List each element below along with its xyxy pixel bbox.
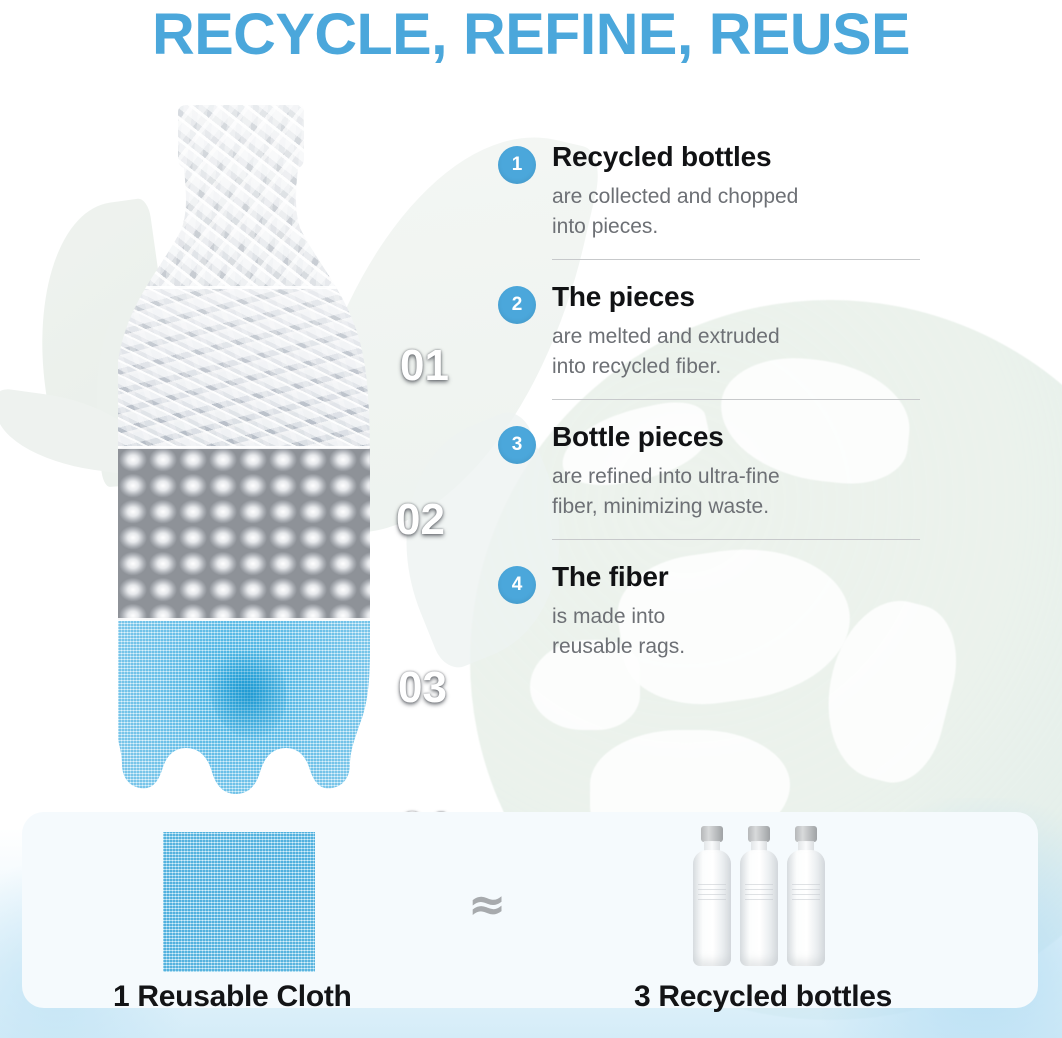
bottle-segment-01 <box>118 100 388 288</box>
bottle-segment-02 <box>118 288 388 448</box>
page-title: RECYCLE, REFINE, REUSE <box>0 4 1062 66</box>
step-body-4: is made into reusable rags. <box>552 602 938 662</box>
bottle-cap-icon <box>701 826 723 842</box>
step-title-1: Recycled bottles <box>552 140 938 174</box>
step-item-1: 1 Recycled bottles are collected and cho… <box>498 140 938 260</box>
step-badge-4: 4 <box>498 566 536 604</box>
step-divider-3 <box>552 539 920 540</box>
step-badge-2: 2 <box>498 286 536 324</box>
approximately-equal-icon: ≈ <box>462 876 512 932</box>
step-title-4: The fiber <box>552 560 938 594</box>
step-title-2: The pieces <box>552 280 938 314</box>
bottle-segment-04 <box>118 620 388 810</box>
bottle-cap-icon <box>748 826 770 842</box>
step-body-1: are collected and chopped into pieces. <box>552 182 938 242</box>
step-badge-1: 1 <box>498 146 536 184</box>
bottle-body <box>740 850 778 966</box>
step-item-3: 3 Bottle pieces are refined into ultra-f… <box>498 420 938 540</box>
steps-list: 1 Recycled bottles are collected and cho… <box>498 140 938 662</box>
segment-divider <box>118 618 388 621</box>
step-divider-2 <box>552 399 920 400</box>
segment-number-02: 02 <box>396 498 445 542</box>
step-divider-1 <box>552 259 920 260</box>
recycled-bottles-icon <box>693 826 825 966</box>
bottle-segment-03 <box>118 448 388 620</box>
comparison-label-right: 3 Recycled bottles <box>634 980 892 1014</box>
step-item-4: 4 The fiber is made into reusable rags. <box>498 560 938 662</box>
cloth-swatch-icon <box>163 832 315 972</box>
bottle-silhouette <box>118 100 388 800</box>
step-body-3: are refined into ultra-fine fiber, minim… <box>552 462 938 522</box>
segment-divider <box>118 286 388 289</box>
bottle-body <box>693 850 731 966</box>
step-body-2: are melted and extruded into recycled fi… <box>552 322 938 382</box>
mini-bottle <box>787 826 825 966</box>
step-item-2: 2 The pieces are melted and extruded int… <box>498 280 938 400</box>
step-title-3: Bottle pieces <box>552 420 938 454</box>
step-badge-3: 3 <box>498 426 536 464</box>
bottle-infographic: 01 02 03 04 <box>118 100 388 800</box>
infographic-canvas: RECYCLE, REFINE, REUSE 01 02 03 04 1 Rec… <box>0 0 1062 1038</box>
mini-bottle <box>740 826 778 966</box>
mini-bottle <box>693 826 731 966</box>
bottle-body <box>787 850 825 966</box>
bottle-cap-icon <box>795 826 817 842</box>
segment-divider <box>118 446 388 449</box>
segment-number-03: 03 <box>398 666 447 710</box>
comparison-label-left: 1 Reusable Cloth <box>113 980 352 1014</box>
segment-number-01: 01 <box>400 344 449 388</box>
